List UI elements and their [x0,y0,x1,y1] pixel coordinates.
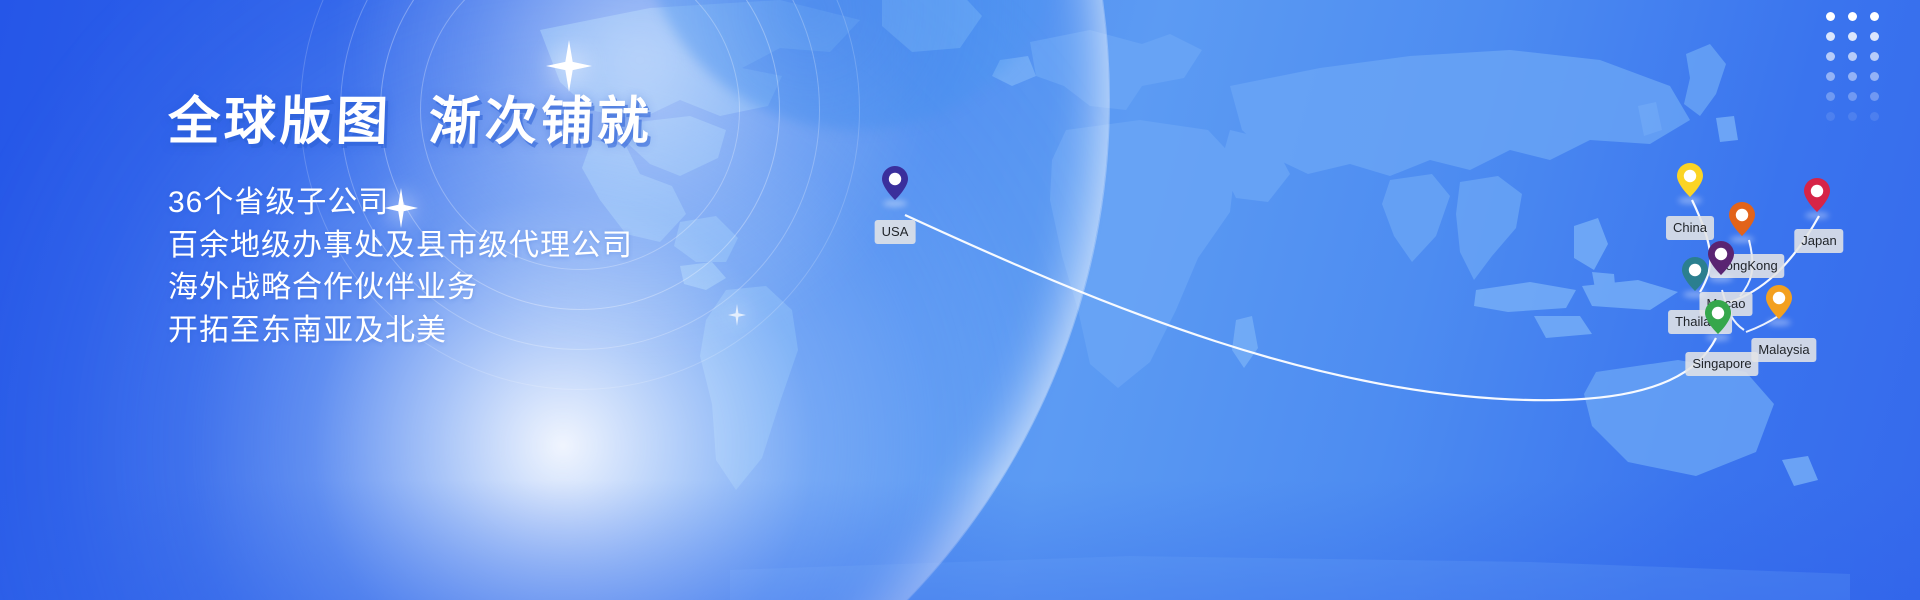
sub-line-3: 海外战略合作伙伴业务 [168,267,928,310]
page-title: 全球版图 渐次铺就 [167,96,929,148]
pin-body [1803,178,1831,216]
global-footprint-banner: 全球版图 渐次铺就 36个省级子公司 百余地级办事处及县市级代理公司 海外战略合… [0,0,1920,600]
sub-line-4: 开拓至东南亚及北美 [168,310,928,353]
map-pin-label-china: China [1666,216,1714,240]
pin-body [1704,300,1732,338]
map-pin-china[interactable] [1676,163,1704,201]
pin-body [881,166,909,204]
dot-grid-dot [1826,32,1835,41]
dot-grid-dot [1826,92,1835,101]
pin-body [1707,241,1735,279]
pin-body [1728,202,1756,240]
copy-block: 全球版图 渐次铺就 36个省级子公司 百余地级办事处及县市级代理公司 海外战略合… [168,96,928,352]
dot-grid-dot [1870,12,1879,21]
map-pin-thailand[interactable] [1681,257,1709,295]
map-pin-usa[interactable] [881,166,909,204]
sub-line-2: 百余地级办事处及县市级代理公司 [168,225,928,268]
dot-grid-dot [1870,112,1879,121]
dot-grid-dot [1826,52,1835,61]
dot-grid-dot [1826,72,1835,81]
map-pin-singapore[interactable] [1704,300,1732,338]
dot-grid-dot [1870,32,1879,41]
sparkle-large-icon [546,40,592,92]
dot-grid-dot [1826,112,1835,121]
dot-grid-dot [1870,92,1879,101]
map-pin-macao[interactable] [1707,241,1735,279]
pin-body [1681,257,1709,295]
dot-grid-dot [1848,72,1857,81]
map-pin-japan[interactable] [1803,178,1831,216]
dot-grid-dot [1826,12,1835,21]
dot-grid-decoration [1826,12,1892,132]
pin-body [1676,163,1704,201]
bottom-fade [0,480,1920,600]
map-pin-malaysia[interactable] [1765,285,1793,323]
dot-grid-dot [1848,12,1857,21]
map-pin-hongkong[interactable] [1728,202,1756,240]
map-pin-label-japan: Japan [1794,229,1843,253]
sub-line-1: 36个省级子公司 [168,182,928,225]
map-pin-label-singapore: Singapore [1685,352,1758,376]
pin-body [1765,285,1793,323]
dot-grid-dot [1870,52,1879,61]
dot-grid-dot [1848,112,1857,121]
dot-grid-dot [1848,32,1857,41]
dot-grid-dot [1848,52,1857,61]
map-pin-label-malaysia: Malaysia [1751,338,1816,362]
dot-grid-dot [1848,92,1857,101]
map-pin-label-usa: USA [875,220,916,244]
dot-grid-dot [1870,72,1879,81]
